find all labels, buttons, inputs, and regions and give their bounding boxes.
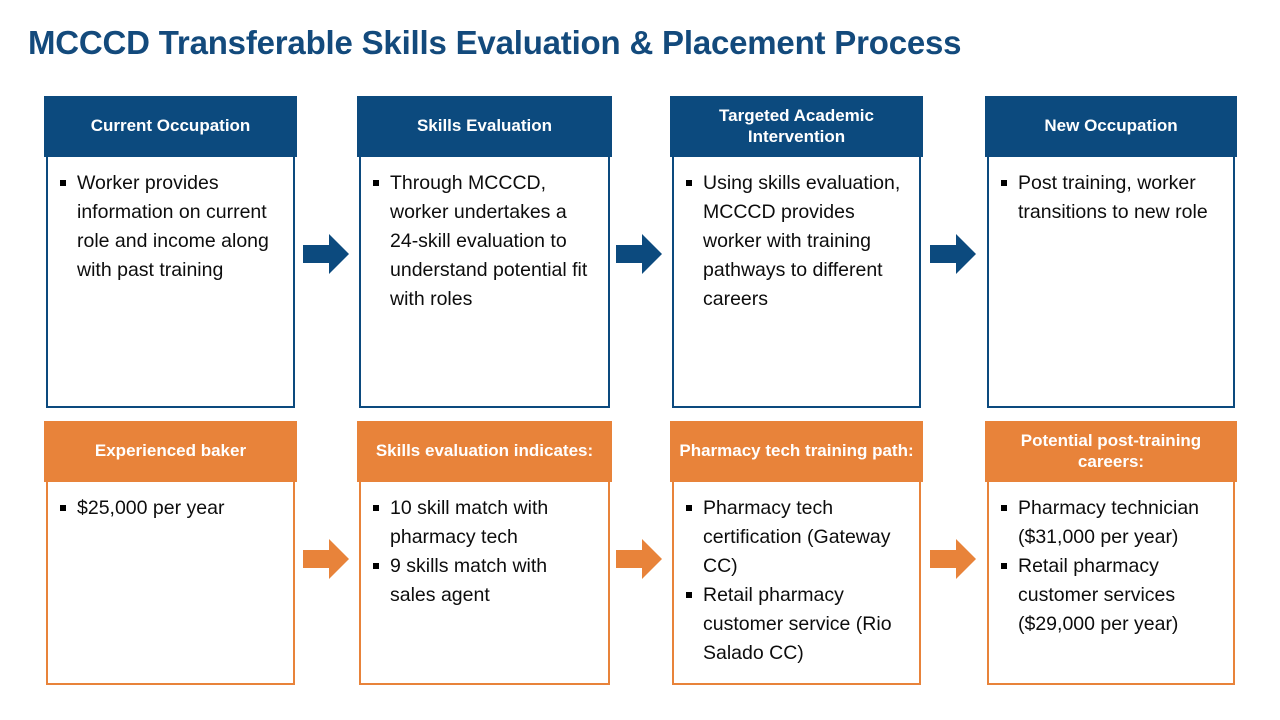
- arrow-right-icon: [930, 539, 976, 579]
- bullet-list: $25,000 per year: [56, 494, 283, 523]
- card-body: Post training, worker transitions to new…: [987, 157, 1235, 408]
- bullet-list: Worker provides information on current r…: [56, 169, 283, 285]
- example-card-1[interactable]: Experienced baker $25,000 per year: [44, 421, 297, 685]
- card-body: Pharmacy tech certification (Gateway CC)…: [672, 482, 921, 685]
- card-header: Targeted Academic Intervention: [670, 96, 923, 157]
- arrow-right-icon: [616, 234, 662, 274]
- arrow-right-icon: [930, 234, 976, 274]
- list-item: Through MCCCD, worker undertakes a 24-sk…: [369, 169, 598, 314]
- card-header: Current Occupation: [44, 96, 297, 157]
- bullet-list: 10 skill match with pharmacy tech 9 skil…: [369, 494, 598, 610]
- card-body: Worker provides information on current r…: [46, 157, 295, 408]
- card-header: New Occupation: [985, 96, 1237, 157]
- list-item: Post training, worker transitions to new…: [997, 169, 1223, 227]
- example-card-4[interactable]: Potential post-training careers: Pharmac…: [985, 421, 1237, 685]
- list-item: Pharmacy tech certification (Gateway CC): [682, 494, 909, 581]
- card-header: Pharmacy tech training path:: [670, 421, 923, 482]
- bullet-list: Pharmacy tech certification (Gateway CC)…: [682, 494, 909, 668]
- card-body: $25,000 per year: [46, 482, 295, 685]
- example-row: Experienced baker $25,000 per year Skill…: [0, 421, 1280, 685]
- card-header: Skills evaluation indicates:: [357, 421, 612, 482]
- card-body: Pharmacy technician ($31,000 per year) R…: [987, 482, 1235, 685]
- list-item: 9 skills match with sales agent: [369, 552, 598, 610]
- bullet-list: Pharmacy technician ($31,000 per year) R…: [997, 494, 1223, 639]
- process-card-3[interactable]: Targeted Academic Intervention Using ski…: [670, 96, 923, 408]
- arrow-right-icon: [303, 234, 349, 274]
- list-item: 10 skill match with pharmacy tech: [369, 494, 598, 552]
- list-item: Pharmacy technician ($31,000 per year): [997, 494, 1223, 552]
- card-body: Using skills evaluation, MCCCD provides …: [672, 157, 921, 408]
- arrow-right-icon: [616, 539, 662, 579]
- bullet-list: Using skills evaluation, MCCCD provides …: [682, 169, 909, 314]
- bullet-list: Through MCCCD, worker undertakes a 24-sk…: [369, 169, 598, 314]
- card-body: Through MCCCD, worker undertakes a 24-sk…: [359, 157, 610, 408]
- example-card-2[interactable]: Skills evaluation indicates: 10 skill ma…: [357, 421, 612, 685]
- card-header: Skills Evaluation: [357, 96, 612, 157]
- list-item: Using skills evaluation, MCCCD provides …: [682, 169, 909, 314]
- bullet-list: Post training, worker transitions to new…: [997, 169, 1223, 227]
- list-item: Retail pharmacy customer service (Rio Sa…: [682, 581, 909, 668]
- process-card-4[interactable]: New Occupation Post training, worker tra…: [985, 96, 1237, 408]
- process-card-2[interactable]: Skills Evaluation Through MCCCD, worker …: [357, 96, 612, 408]
- process-card-1[interactable]: Current Occupation Worker provides infor…: [44, 96, 297, 408]
- arrow-right-icon: [303, 539, 349, 579]
- list-item: $25,000 per year: [56, 494, 283, 523]
- process-row: Current Occupation Worker provides infor…: [0, 96, 1280, 408]
- card-body: 10 skill match with pharmacy tech 9 skil…: [359, 482, 610, 685]
- page-title: MCCCD Transferable Skills Evaluation & P…: [28, 24, 961, 62]
- card-header: Experienced baker: [44, 421, 297, 482]
- list-item: Retail pharmacy customer services ($29,0…: [997, 552, 1223, 639]
- list-item: Worker provides information on current r…: [56, 169, 283, 285]
- example-card-3[interactable]: Pharmacy tech training path: Pharmacy te…: [670, 421, 923, 685]
- card-header: Potential post-training careers:: [985, 421, 1237, 482]
